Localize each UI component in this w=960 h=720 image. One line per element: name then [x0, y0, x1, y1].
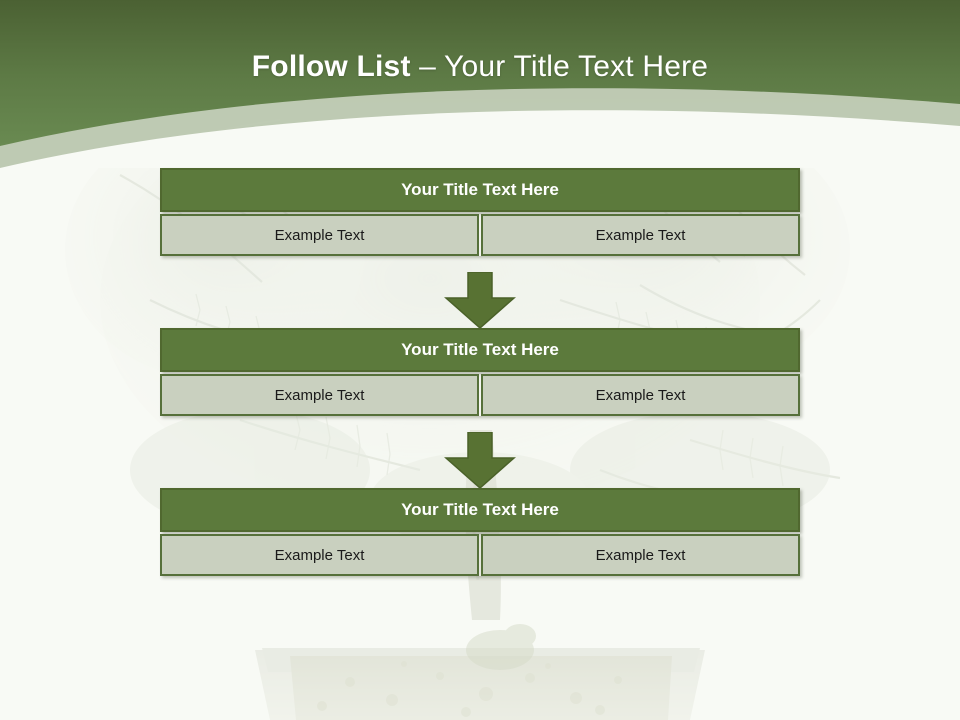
follow-list-group-1[interactable]: Your Title Text Here Example Text Exampl… — [160, 168, 800, 256]
page-title: Follow List – Your Title Text Here — [0, 48, 960, 86]
group-2-cells: Example Text Example Text — [160, 374, 800, 416]
slide-canvas: Follow List – Your Title Text Here Your … — [0, 0, 960, 720]
down-arrow-icon-1 — [440, 272, 520, 328]
follow-list-group-3[interactable]: Your Title Text Here Example Text Exampl… — [160, 488, 800, 576]
follow-list-group-2[interactable]: Your Title Text Here Example Text Exampl… — [160, 328, 800, 416]
group-1-title: Your Title Text Here — [160, 168, 800, 212]
down-arrow-icon-2 — [440, 432, 520, 488]
group-2-title: Your Title Text Here — [160, 328, 800, 372]
group-2-cell-2[interactable]: Example Text — [481, 374, 800, 416]
page-title-regular: – Your Title Text Here — [411, 50, 709, 83]
group-2-cell-1[interactable]: Example Text — [160, 374, 479, 416]
group-1-cell-2[interactable]: Example Text — [481, 214, 800, 256]
group-3-cell-1[interactable]: Example Text — [160, 534, 479, 576]
group-1-cells: Example Text Example Text — [160, 214, 800, 256]
group-3-cell-2[interactable]: Example Text — [481, 534, 800, 576]
page-title-bold: Follow List — [252, 50, 411, 83]
group-1-cell-1[interactable]: Example Text — [160, 214, 479, 256]
group-3-title: Your Title Text Here — [160, 488, 800, 532]
group-3-cells: Example Text Example Text — [160, 534, 800, 576]
